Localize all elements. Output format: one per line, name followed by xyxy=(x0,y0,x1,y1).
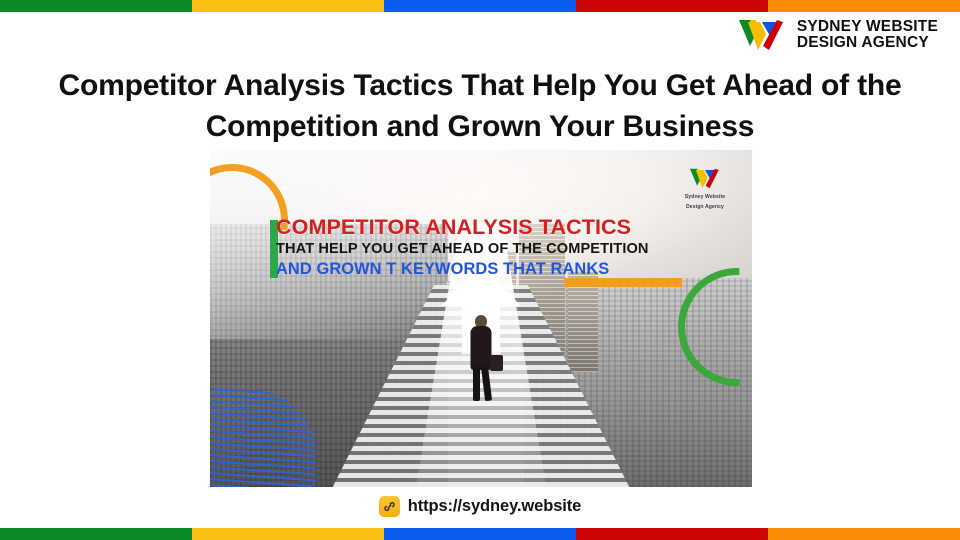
image-inline-logo: Sydney Website Design Agency xyxy=(672,166,738,210)
brand-wordmark: SYDNEY WEBSITE DESIGN AGENCY xyxy=(797,19,938,51)
overlay-headline: COMPETITOR ANALYSIS TACTICS xyxy=(276,216,706,239)
footer-link[interactable]: https://sydney.website xyxy=(0,496,960,517)
brand-line-2: DESIGN AGENCY xyxy=(797,35,938,51)
top-bar-segment-blue xyxy=(384,0,576,12)
bottom-bar-segment-yellow xyxy=(192,528,384,540)
overlay-tagline: AND GROWN T KEYWORDS THAT RANKS xyxy=(276,260,706,278)
w-logo-icon xyxy=(736,16,788,54)
bottom-bar-segment-green xyxy=(0,528,192,540)
top-bar-segment-yellow xyxy=(192,0,384,12)
featured-image[interactable]: COMPETITOR ANALYSIS TACTICS THAT HELP YO… xyxy=(210,150,752,487)
orange-bar-decoration xyxy=(564,278,682,287)
top-color-bar xyxy=(0,0,960,12)
bottom-bar-segment-orange xyxy=(768,528,960,540)
bottom-color-bar xyxy=(0,528,960,540)
brand-line-1: SYDNEY WEBSITE xyxy=(797,19,938,35)
image-overlay-text: COMPETITOR ANALYSIS TACTICS THAT HELP YO… xyxy=(276,216,706,278)
w-logo-icon xyxy=(688,166,722,191)
top-bar-segment-green xyxy=(0,0,192,12)
footer-url[interactable]: https://sydney.website xyxy=(408,497,582,516)
slide-root: SYDNEY WEBSITE DESIGN AGENCY Competitor … xyxy=(0,0,960,540)
overlay-subline: THAT HELP YOU GET AHEAD OF THE COMPETITI… xyxy=(276,241,706,258)
top-bar-segment-orange xyxy=(768,0,960,12)
top-bar-segment-red xyxy=(576,0,768,12)
bottom-bar-segment-blue xyxy=(384,528,576,540)
link-chain-icon xyxy=(379,496,400,517)
page-title: Competitor Analysis Tactics That Help Yo… xyxy=(30,66,930,148)
inline-logo-line-2: Design Agency xyxy=(672,204,738,211)
brand-logo[interactable]: SYDNEY WEBSITE DESIGN AGENCY xyxy=(736,16,938,54)
bottom-bar-segment-red xyxy=(576,528,768,540)
inline-logo-line-1: Sydney Website xyxy=(672,194,738,201)
image-businessman xyxy=(464,315,498,401)
